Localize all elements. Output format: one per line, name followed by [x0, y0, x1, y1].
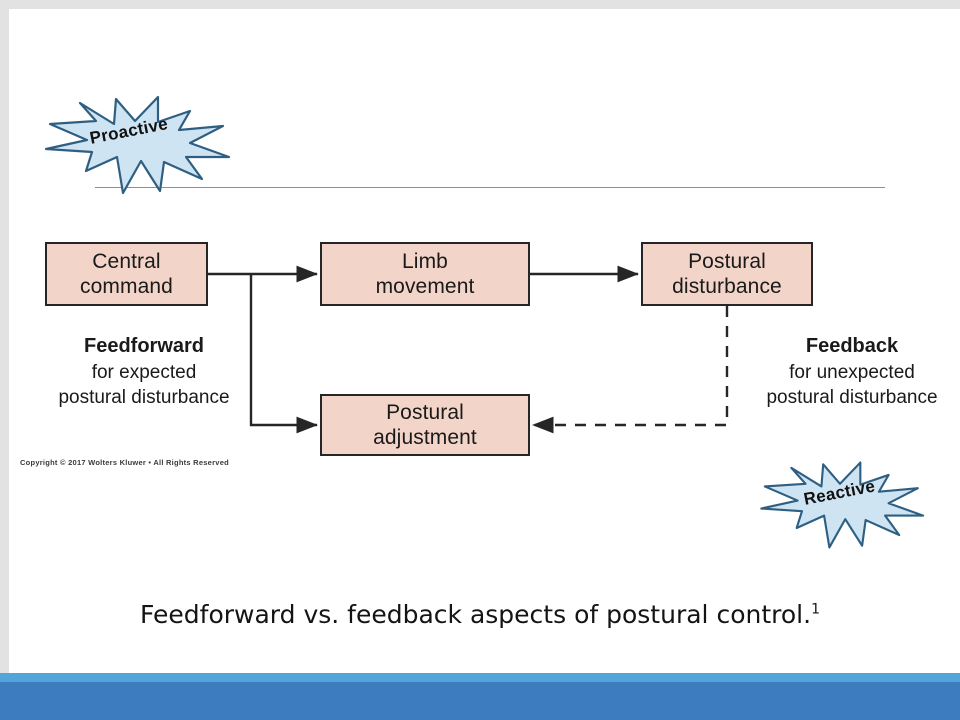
box-line-1: Postural	[386, 400, 464, 425]
annotation-line-2: postural disturbance	[742, 385, 960, 410]
figure-caption-superscript: 1	[811, 602, 820, 618]
footer-bar-light	[0, 673, 960, 682]
annotation-feedforward: Feedforward for expected postural distur…	[32, 334, 256, 410]
box-central-command: Central command	[45, 242, 208, 306]
arrow-central-to-adjustment	[251, 274, 317, 425]
annotation-line-1: for expected	[32, 360, 256, 385]
annotation-feedback: Feedback for unexpected postural disturb…	[742, 334, 960, 410]
box-postural-adjustment: Postural adjustment	[320, 394, 530, 456]
box-line-2: command	[80, 274, 173, 299]
figure-caption: Feedforward vs. feedback aspects of post…	[0, 600, 960, 629]
page-edge-top	[0, 0, 960, 9]
box-line-2: adjustment	[373, 425, 477, 450]
starburst-reactive: Reactive	[756, 460, 924, 550]
page-edge-left	[0, 0, 9, 673]
copyright-notice: Copyright © 2017 Wolters Kluwer • All Ri…	[20, 458, 229, 467]
dashed-feedback-arrow	[533, 306, 727, 425]
starburst-shape	[46, 97, 229, 193]
box-line-1: Postural	[688, 249, 766, 274]
annotation-heading: Feedforward	[32, 334, 256, 359]
starburst-proactive: Proactive	[40, 95, 230, 195]
box-limb-movement: Limb movement	[320, 242, 530, 306]
box-line-1: Limb	[402, 249, 448, 274]
figure-caption-text: Feedforward vs. feedback aspects of post…	[140, 600, 811, 629]
box-line-2: disturbance	[672, 274, 782, 299]
box-line-1: Central	[92, 249, 160, 274]
box-line-2: movement	[376, 274, 475, 299]
annotation-line-1: for unexpected	[742, 360, 960, 385]
starburst-shape	[761, 463, 923, 548]
annotation-heading: Feedback	[742, 334, 960, 359]
annotation-line-2: postural disturbance	[32, 385, 256, 410]
slide-canvas: Proactive Reactive Central command	[0, 0, 960, 720]
box-postural-disturbance: Postural disturbance	[641, 242, 813, 306]
footer-bar-dark	[0, 682, 960, 720]
